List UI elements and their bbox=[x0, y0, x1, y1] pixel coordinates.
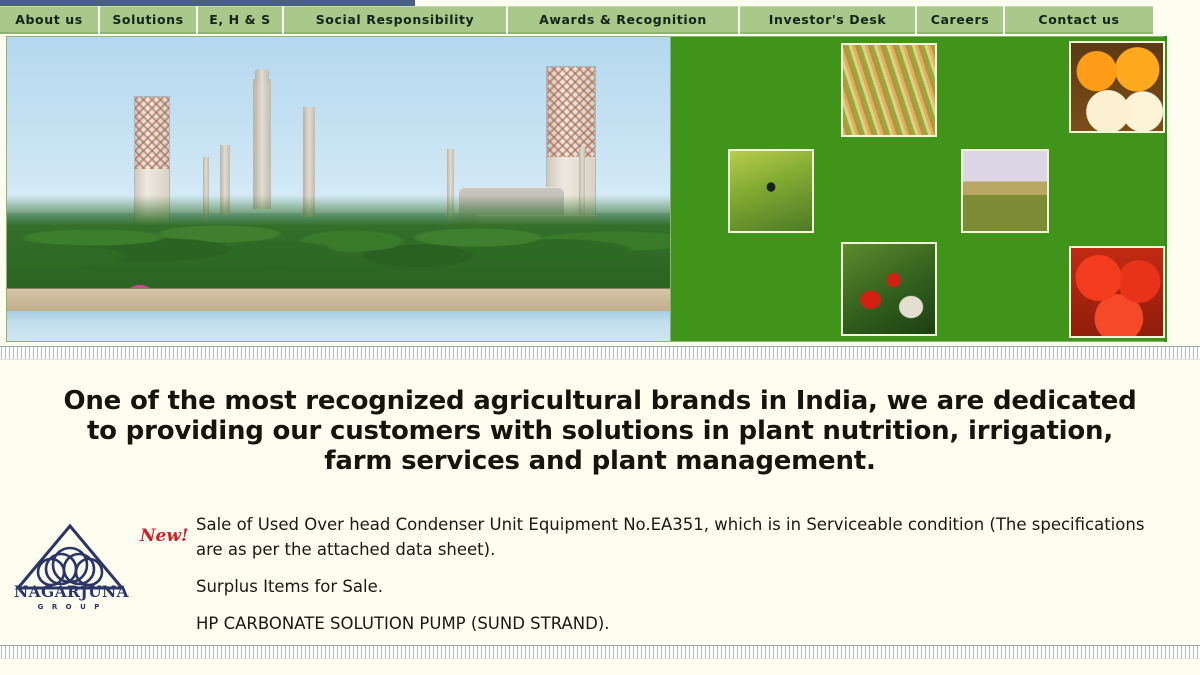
announcement-item[interactable]: HP CARBONATE SOLUTION PUMP (SUND STRAND)… bbox=[196, 611, 1160, 636]
nav-label: Careers bbox=[931, 12, 990, 27]
announcement-item[interactable]: Sale of Used Over head Condenser Unit Eq… bbox=[196, 512, 1160, 562]
tagline-line-3: farm services and plant management. bbox=[0, 446, 1200, 476]
thumb-oranges[interactable] bbox=[1069, 41, 1165, 133]
nav-item-social-responsibility[interactable]: Social Responsibility bbox=[284, 6, 506, 34]
nav-label: Awards & Recognition bbox=[539, 12, 707, 27]
announcement-list: Sale of Used Over head Condenser Unit Eq… bbox=[196, 512, 1200, 636]
thumb-chillies[interactable] bbox=[841, 242, 937, 336]
stack-1-cap bbox=[255, 69, 269, 85]
nav-label: Social Responsibility bbox=[316, 12, 475, 27]
hero-banner bbox=[6, 36, 1167, 342]
nav-item-ehs[interactable]: E, H & S bbox=[198, 6, 282, 34]
nav-item-about-us[interactable]: About us bbox=[0, 6, 98, 34]
brand-name: NAGARJUNA bbox=[14, 582, 126, 601]
announcement-item[interactable]: Surplus Items for Sale. bbox=[196, 574, 1160, 599]
water bbox=[7, 311, 670, 341]
tagline-line-2: to providing our customers with solution… bbox=[0, 416, 1200, 446]
nav-label: Contact us bbox=[1038, 12, 1119, 27]
announcements-section: NAGARJUNA G R O U P New! Sale of Used Ov… bbox=[0, 512, 1200, 636]
crops-panel bbox=[671, 36, 1164, 342]
nav-item-awards-recognition[interactable]: Awards & Recognition bbox=[508, 6, 738, 34]
shoreline bbox=[7, 288, 670, 310]
nav-item-contact-us[interactable]: Contact us bbox=[1005, 6, 1153, 34]
plant-photo bbox=[6, 36, 671, 342]
thumb-farmer[interactable] bbox=[728, 149, 814, 233]
nav-label: E, H & S bbox=[209, 12, 271, 27]
page-tagline: One of the most recognized agricultural … bbox=[0, 386, 1200, 476]
nav-label: Solutions bbox=[112, 12, 183, 27]
nav-item-investors-desk[interactable]: Investor's Desk bbox=[740, 6, 915, 34]
tree-line bbox=[7, 171, 670, 293]
divider-bottom bbox=[0, 645, 1200, 659]
thumb-paddy-rice[interactable] bbox=[841, 43, 937, 137]
brand-logo-wrap[interactable]: NAGARJUNA G R O U P bbox=[0, 512, 140, 612]
nav-label: About us bbox=[15, 12, 83, 27]
thumb-tomatoes[interactable] bbox=[1069, 246, 1165, 338]
nav-item-solutions[interactable]: Solutions bbox=[100, 6, 196, 34]
nav-item-careers[interactable]: Careers bbox=[917, 6, 1003, 34]
nav-label: Investor's Desk bbox=[769, 12, 887, 27]
nav-filler bbox=[1155, 6, 1200, 34]
divider-top bbox=[0, 346, 1200, 360]
tagline-line-1: One of the most recognized agricultural … bbox=[0, 386, 1200, 416]
nagarjuna-logo[interactable]: NAGARJUNA G R O U P bbox=[14, 520, 126, 612]
main-navigation: About us Solutions E, H & S Social Respo… bbox=[0, 6, 1200, 34]
thumb-irrigation[interactable] bbox=[961, 149, 1049, 233]
new-badge: New! bbox=[140, 512, 196, 546]
brand-subtitle: G R O U P bbox=[14, 603, 126, 611]
